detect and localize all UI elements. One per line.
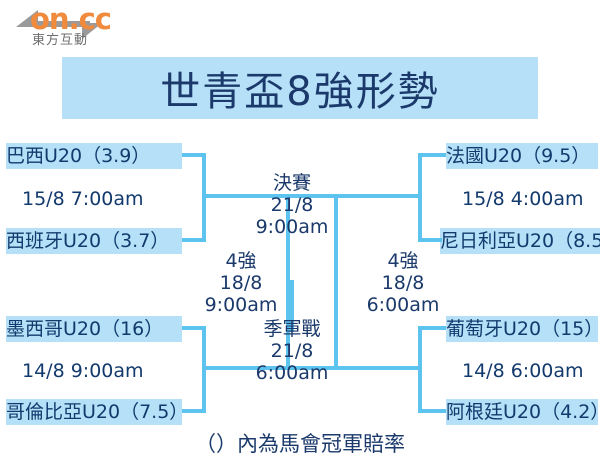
stage-third-place-time: 6:00am [242, 362, 342, 384]
bracket-line-rb-bot-h [418, 409, 446, 413]
match-time-qf-right-top: 15/8 4:00am [462, 188, 584, 210]
team-spain-u20: 西班牙U20（3.7） [6, 228, 182, 254]
stage-third-place-label: 季軍戰 [242, 318, 342, 340]
bracket-line-rb-top-h [418, 326, 446, 330]
page-title: 世青盃8強形勢 [160, 59, 439, 117]
team-colombia-u20: 哥倫比亞U20（7.5） [6, 399, 182, 425]
stage-final-time: 9:00am [242, 216, 342, 238]
stage-semifinal-left-label: 4強 [186, 250, 296, 272]
stage-semifinal-right: 4強 18/8 6:00am [348, 250, 458, 316]
oncc-logo: on.cc 東方互動 [8, 4, 128, 46]
page-title-banner: 世青盃8強形勢 [62, 57, 538, 119]
stage-semifinal-left-date: 18/8 [186, 272, 296, 294]
stage-semifinal-right-date: 18/8 [348, 272, 458, 294]
stage-third-place: 季軍戰 21/8 6:00am [242, 318, 342, 384]
team-mexico-u20: 墨西哥U20（16） [6, 316, 182, 342]
stage-semifinal-right-label: 4強 [348, 250, 458, 272]
bracket-line-rt-top-h [418, 153, 446, 157]
logo-tagline: 東方互動 [32, 29, 88, 48]
stage-semifinal-left: 4強 18/8 9:00am [186, 250, 296, 316]
team-france-u20: 法國U20（9.5） [446, 143, 598, 169]
odds-footnote: （）內為馬會冠軍賠率 [0, 428, 600, 458]
match-time-qf-left-top: 15/8 7:00am [22, 188, 144, 210]
match-time-qf-right-bottom: 14/8 6:00am [462, 360, 584, 382]
stage-semifinal-right-time: 6:00am [348, 294, 458, 316]
stage-final-label: 決賽 [242, 172, 342, 194]
team-argentina-u20: 阿根廷U20（4.2） [446, 399, 598, 425]
match-time-qf-left-bottom: 14/8 9:00am [22, 360, 144, 382]
stage-final: 決賽 21/8 9:00am [242, 172, 342, 238]
stage-final-date: 21/8 [242, 194, 342, 216]
stage-semifinal-left-time: 9:00am [186, 294, 296, 316]
team-brazil-u20: 巴西U20（3.9） [6, 143, 182, 169]
tournament-bracket-infographic: on.cc 東方互動 世青盃8強形勢 巴西U20（3.9） 15/8 7:00a… [0, 0, 600, 461]
team-portugal-u20: 葡萄牙U20（15） [446, 316, 598, 342]
stage-third-place-date: 21/8 [242, 340, 342, 362]
team-nigeria-u20: 尼日利亞U20（8.5） [440, 228, 600, 254]
